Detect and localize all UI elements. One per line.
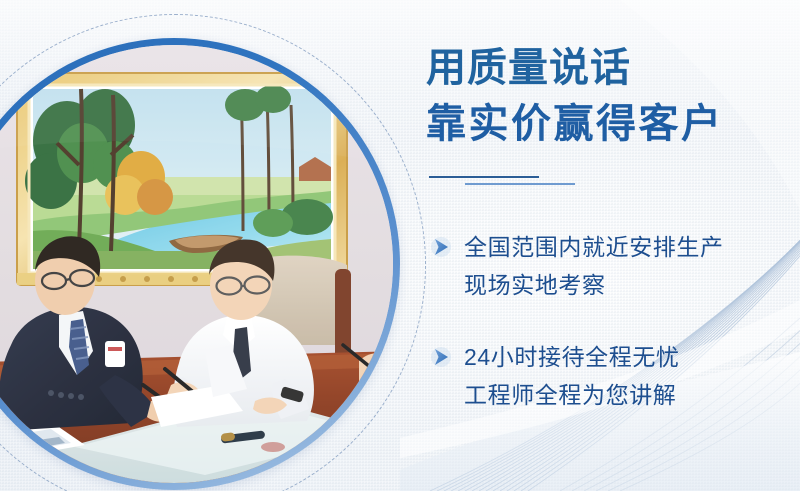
headline-block: 用质量说话 靠实价赢得客户 — [426, 40, 800, 152]
play-triangle-icon — [430, 236, 452, 258]
feature-item-1-text: 全国范围内就近安排生产 现场实地考察 — [464, 228, 794, 304]
headline-line-1: 用质量说话 — [426, 40, 800, 96]
content-column: 用质量说话 靠实价赢得客户 — [424, 0, 800, 491]
feature-item-2-line-1: 24小时接待全程无忧 — [464, 338, 794, 376]
meeting-photo — [0, 45, 393, 483]
feature-item-2-text: 24小时接待全程无忧 工程师全程为您讲解 — [464, 338, 794, 414]
play-triangle-icon — [430, 346, 452, 368]
feature-item-2-line-2: 工程师全程为您讲解 — [464, 376, 794, 414]
feature-item-1-line-2: 现场实地考察 — [464, 266, 794, 304]
promo-banner: 用质量说话 靠实价赢得客户 — [0, 0, 800, 491]
photo-mask — [0, 45, 393, 483]
headline-line-2: 靠实价赢得客户 — [426, 96, 800, 152]
photo-circle — [0, 38, 400, 490]
divider-line-top — [429, 176, 539, 178]
divider-line-bottom — [465, 183, 575, 185]
headline-divider — [429, 176, 729, 190]
feature-item-1-line-1: 全国范围内就近安排生产 — [464, 228, 794, 266]
